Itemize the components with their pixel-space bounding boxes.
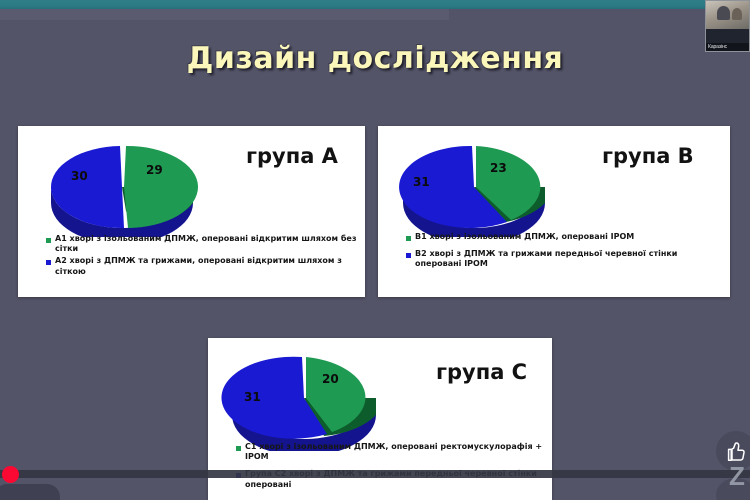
webcam-person-icon — [717, 6, 730, 20]
legend-group-a: А1 хворі з ізольованим ДПМЖ, оперовані в… — [46, 234, 359, 279]
group-label-c: група C — [436, 360, 527, 384]
legend-item: А1 хворі з ізольованим ДПМЖ, оперовані в… — [46, 234, 359, 254]
webcam-person-secondary-icon — [732, 8, 742, 20]
legend-swatch-green-icon — [236, 446, 241, 451]
legend-label: А1 хворі з ізольованим ДПМЖ, оперовані в… — [55, 234, 359, 254]
pie-svg-a — [40, 137, 205, 237]
legend-swatch-blue-icon — [406, 253, 411, 258]
legend-label: В2 хворі з ДПМЖ та грижами передньої чер… — [415, 249, 724, 269]
pie-slice-value-c-1: 20 — [322, 372, 339, 386]
legend-item: В1 хворі з ізольованим ДПМЖ, оперовані I… — [406, 232, 724, 242]
legend-item: С1 хворі з ізольованим ДПМЖ, оперовані р… — [236, 442, 546, 462]
pie-slice-value-a-2: 30 — [71, 169, 88, 183]
chart-card-group-a: 29 30 група A А1 хворі з ізольованим ДПМ… — [18, 126, 365, 297]
pie-slice-value-c-2: 31 — [244, 390, 261, 404]
toolbar-left-control[interactable] — [0, 484, 60, 500]
app-edge-glyph: Z — [729, 463, 745, 489]
legend-label: В1 хворі з ізольованим ДПМЖ, оперовані I… — [415, 232, 634, 242]
legend-item: А2 хворі з ДПМЖ та грижами, оперовані ві… — [46, 256, 359, 276]
pie-slice-value-b-1: 23 — [490, 161, 507, 175]
top-accent-bar — [0, 0, 750, 9]
legend-group-b: В1 хворі з ізольованим ДПМЖ, оперовані I… — [406, 232, 724, 277]
pie-chart-group-c: 20 31 — [220, 346, 390, 451]
pie-slice-value-a-1: 29 — [146, 163, 163, 177]
legend-swatch-blue-icon — [46, 260, 51, 265]
legend-swatch-green-icon — [46, 238, 51, 243]
group-label-a: група A — [246, 144, 338, 168]
thumbs-up-icon — [726, 440, 746, 462]
pie-chart-group-a: 29 30 — [40, 137, 205, 237]
legend-label: С1 хворі з ізольованим ДПМЖ, оперовані р… — [245, 442, 546, 462]
group-label-b: група B — [602, 144, 694, 168]
pie-chart-group-b: 23 31 — [390, 137, 558, 237]
stage-sheen — [0, 9, 449, 20]
recording-indicator-icon — [2, 466, 19, 483]
legend-item: В2 хворі з ДПМЖ та грижами передньої чер… — [406, 249, 724, 269]
chart-card-group-b: 23 31 група B В1 хворі з ізольованим ДПМ… — [378, 126, 730, 297]
meeting-toolbar[interactable] — [0, 470, 750, 478]
page-title: Дизайн дослідження — [0, 41, 750, 76]
legend-swatch-green-icon — [406, 236, 411, 241]
webcam-video-frame — [706, 1, 749, 29]
legend-label: А2 хворі з ДПМЖ та грижами, оперовані ві… — [55, 256, 359, 276]
pie-slice-value-b-2: 31 — [413, 175, 430, 189]
